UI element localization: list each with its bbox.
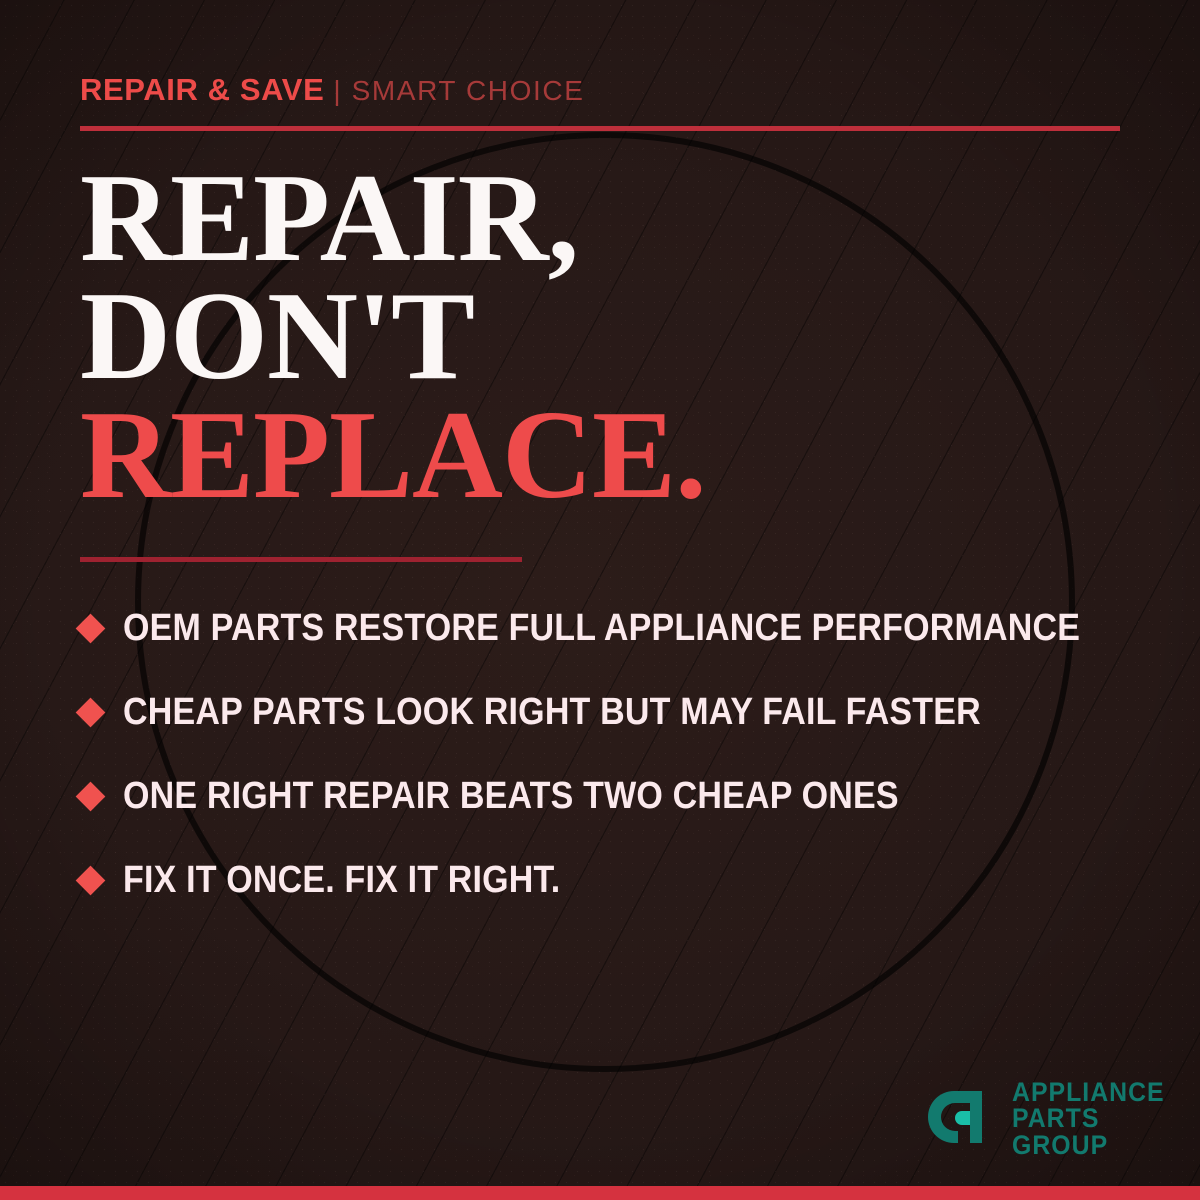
diamond-bullet-icon — [76, 781, 106, 811]
benefits-list: OEM PARTS RESTORE FULL APPLIANCE PERFORM… — [80, 586, 1150, 922]
headline-line-1: REPAIR, — [80, 160, 706, 278]
brand-logo: APPLIANCE PARTS GROUP — [924, 1079, 1178, 1158]
bottom-accent-bar — [0, 1186, 1200, 1200]
eyebrow-sub-text: | SMART CHOICE — [333, 75, 584, 106]
list-item-label: ONE RIGHT REPAIR BEATS TWO CHEAP ONES — [123, 775, 899, 818]
headline-divider-rule — [80, 557, 522, 562]
diamond-bullet-icon — [76, 613, 106, 643]
g-monogram-icon — [924, 1081, 998, 1155]
poster-content: REPAIR & SAVE| SMART CHOICE REPAIR, DON'… — [0, 0, 1200, 1200]
eyebrow-main-text: REPAIR & SAVE — [80, 72, 324, 107]
headline-line-2: DON'T — [80, 278, 706, 396]
brand-word-3: GROUP — [1012, 1132, 1165, 1158]
eyebrow-banner: REPAIR & SAVE| SMART CHOICE — [80, 74, 584, 105]
list-item: ONE RIGHT REPAIR BEATS TWO CHEAP ONES — [80, 754, 1150, 838]
page-title: REPAIR, DON'T REPLACE. — [80, 160, 706, 515]
list-item: FIX IT ONCE. FIX IT RIGHT. — [80, 838, 1150, 922]
brand-word-1: APPLIANCE — [1012, 1079, 1165, 1105]
brand-word-2: PARTS — [1012, 1105, 1165, 1131]
headline-line-3: REPLACE. — [80, 397, 706, 515]
header-divider-rule — [80, 126, 1120, 131]
brand-wordmark: APPLIANCE PARTS GROUP — [1012, 1079, 1178, 1158]
diamond-bullet-icon — [76, 697, 106, 727]
diamond-bullet-icon — [76, 865, 106, 895]
list-item: OEM PARTS RESTORE FULL APPLIANCE PERFORM… — [80, 586, 1150, 670]
list-item-label: CHEAP PARTS LOOK RIGHT BUT MAY FAIL FAST… — [123, 691, 981, 734]
list-item-label: OEM PARTS RESTORE FULL APPLIANCE PERFORM… — [123, 607, 1080, 650]
list-item-label: FIX IT ONCE. FIX IT RIGHT. — [123, 859, 560, 902]
list-item: CHEAP PARTS LOOK RIGHT BUT MAY FAIL FAST… — [80, 670, 1150, 754]
promo-poster: REPAIR & SAVE| SMART CHOICE REPAIR, DON'… — [0, 0, 1200, 1200]
